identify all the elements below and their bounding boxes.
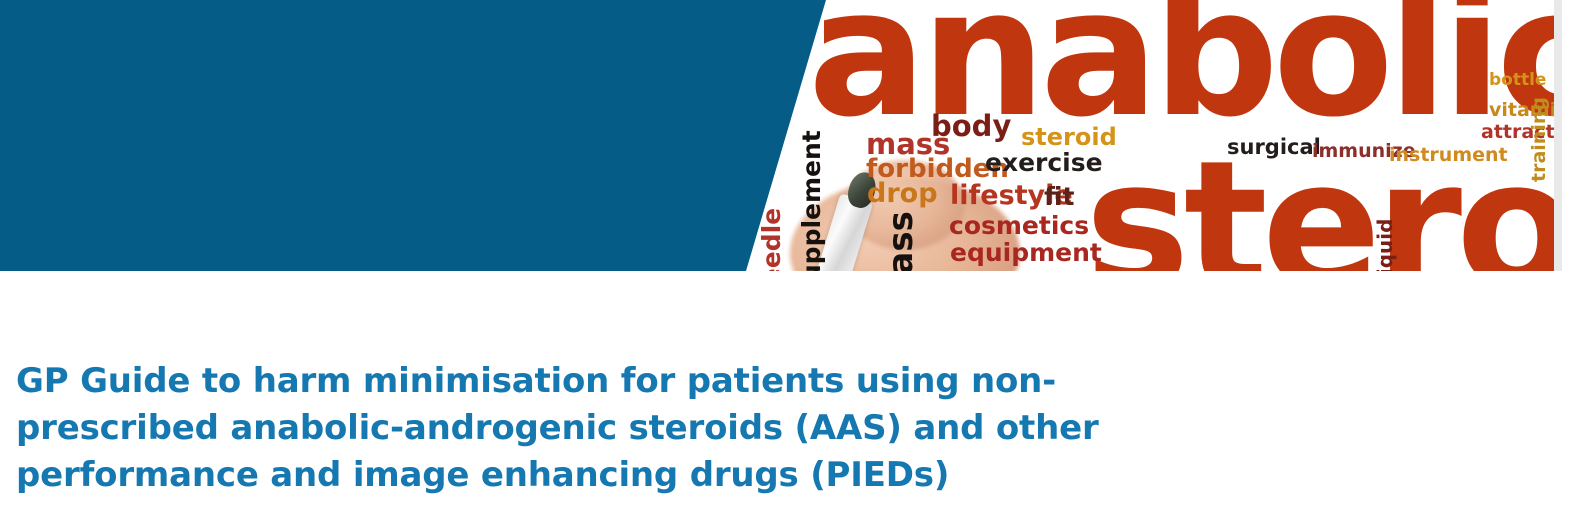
page-root: anabolic steroid body mass forbidden dro…: [0, 0, 1570, 507]
cloud-word-drop: drop: [867, 180, 938, 207]
cloud-word-fit: fit: [1044, 184, 1074, 209]
cloud-word-liquid: liquid: [1375, 219, 1395, 271]
mega-word-anabolic: anabolic: [808, 0, 1562, 142]
teal-diagonal-panel: [0, 0, 830, 271]
cloud-word-vitamin: vitamin: [1489, 101, 1562, 120]
cloud-word-training: training: [1530, 97, 1549, 182]
cloud-word-steroid-small: steroid: [1021, 125, 1117, 149]
cloud-word-supplement: supplement: [799, 130, 824, 271]
page-title: GP Guide to harm minimisation for patien…: [16, 358, 1136, 499]
cloud-word-surgical: surgical: [1227, 137, 1321, 158]
banner-right-edge-strip: [1554, 0, 1562, 271]
cloud-word-needle: needle: [759, 208, 784, 271]
cloud-word-equipment: equipment: [950, 240, 1102, 265]
cloud-word-cosmetics: cosmetics: [949, 213, 1089, 238]
cloud-word-instrument: instrument: [1389, 146, 1508, 165]
page-banner: anabolic steroid body mass forbidden dro…: [0, 0, 1570, 271]
cloud-word-mass-vertical: mass: [884, 211, 918, 271]
cloud-word-bottle: bottle: [1489, 72, 1546, 89]
cloud-word-exercise: exercise: [985, 150, 1103, 175]
